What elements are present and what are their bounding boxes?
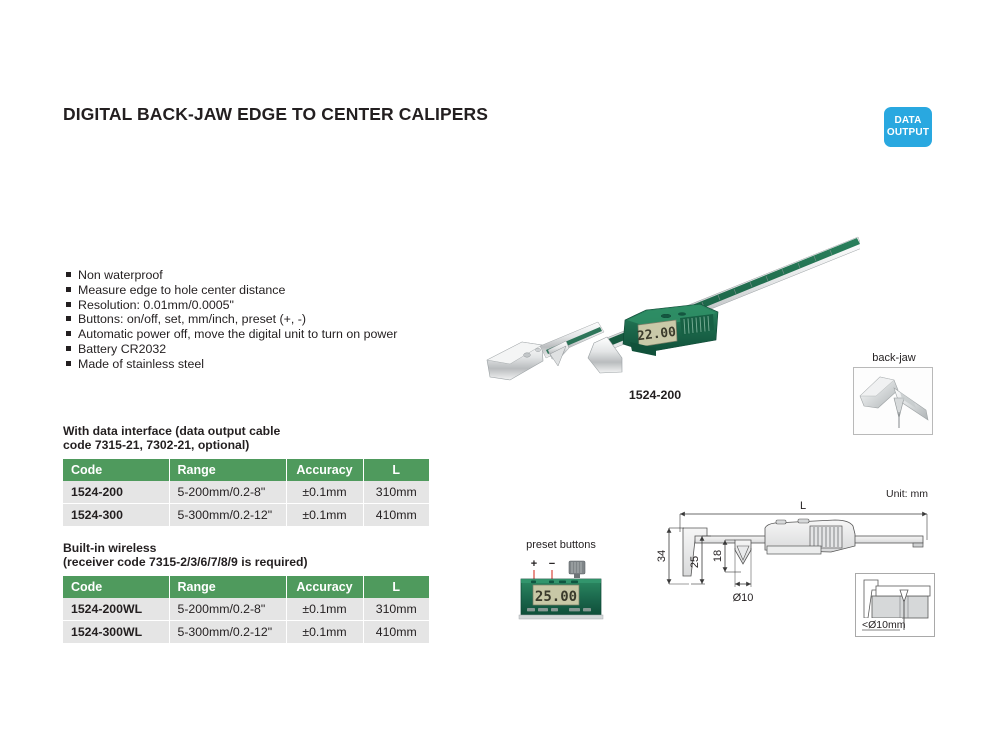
spec-table-data-interface: With data interface (data output cable c… xyxy=(63,424,429,526)
page-title: DIGITAL BACK-JAW EDGE TO CENTER CALIPERS xyxy=(63,104,488,125)
feature-text: Battery CR2032 xyxy=(78,342,166,357)
table-header-row: Code Range Accuracy L xyxy=(63,576,429,598)
square-bullet-icon xyxy=(66,287,71,292)
table: Code Range Accuracy L 1524-200WL 5-200mm… xyxy=(63,576,429,643)
column-header-range: Range xyxy=(169,459,286,481)
cell-accuracy: ±0.1mm xyxy=(286,481,363,504)
cell-code: 1524-200 xyxy=(63,481,169,504)
preset-buttons-inset: preset buttons + − xyxy=(513,539,609,621)
table-caption-line2: code 7315-21, 7302-21, optional) xyxy=(63,438,429,452)
feature-list: Non waterproof Measure edge to hole cent… xyxy=(66,268,466,372)
cell-l: 310mm xyxy=(363,598,429,621)
back-jaw-label: back-jaw xyxy=(853,352,935,364)
list-item: Resolution: 0.01mm/0.0005" xyxy=(66,298,466,313)
dim-34-label: 34 xyxy=(656,550,668,562)
table-caption-line2: (receiver code 7315-2/3/6/7/8/9 is requi… xyxy=(63,555,429,569)
table-row: 1524-200 5-200mm/0.2-8" ±0.1mm 310mm xyxy=(63,481,429,504)
square-bullet-icon xyxy=(66,331,71,336)
cell-accuracy: ±0.1mm xyxy=(286,621,363,644)
column-header-code: Code xyxy=(63,459,169,481)
list-item: Non waterproof xyxy=(66,268,466,283)
cell-accuracy: ±0.1mm xyxy=(286,504,363,527)
hole-detail-diagram: <Ø10mm xyxy=(856,574,934,636)
square-bullet-icon xyxy=(66,316,71,321)
feature-text: Automatic power off, move the digital un… xyxy=(78,327,397,342)
table-row: 1524-200WL 5-200mm/0.2-8" ±0.1mm 310mm xyxy=(63,598,429,621)
data-output-badge-line1: DATA xyxy=(894,115,921,127)
feature-text: Measure edge to hole center distance xyxy=(78,283,285,298)
hole-detail-box: <Ø10mm xyxy=(855,573,935,637)
cell-l: 310mm xyxy=(363,481,429,504)
column-header-l: L xyxy=(363,576,429,598)
data-output-badge: DATA OUTPUT xyxy=(884,107,932,147)
product-photo-caption: 1524-200 xyxy=(600,388,710,402)
back-jaw-photo-frame xyxy=(853,367,933,435)
list-item: Battery CR2032 xyxy=(66,342,466,357)
list-item: Made of stainless steel xyxy=(66,357,466,372)
square-bullet-icon xyxy=(66,302,71,307)
preset-plus-label: + xyxy=(531,558,537,570)
cell-code: 1524-300 xyxy=(63,504,169,527)
column-header-accuracy: Accuracy xyxy=(286,459,363,481)
cell-range: 5-300mm/0.2-12" xyxy=(169,621,286,644)
caliper-digital-unit: 22.00 xyxy=(623,304,718,356)
list-item: Automatic power off, move the digital un… xyxy=(66,327,466,342)
square-bullet-icon xyxy=(66,361,71,366)
data-output-badge-line2: OUTPUT xyxy=(887,127,929,139)
cell-range: 5-200mm/0.2-8" xyxy=(169,481,286,504)
preset-buttons-photo-frame: + − 25.00 xyxy=(517,555,605,621)
back-jaw-inset: back-jaw xyxy=(853,352,935,435)
cell-code: 1524-200WL xyxy=(63,598,169,621)
cell-l: 410mm xyxy=(363,621,429,644)
feature-text: Made of stainless steel xyxy=(78,357,204,372)
hole-detail-label: <Ø10mm xyxy=(862,619,906,631)
square-bullet-icon xyxy=(66,346,71,351)
feature-text: Non waterproof xyxy=(78,268,163,283)
spec-table-built-in-wireless: Built-in wireless (receiver code 7315-2/… xyxy=(63,541,429,643)
feature-text: Resolution: 0.01mm/0.0005" xyxy=(78,298,234,313)
cell-l: 410mm xyxy=(363,504,429,527)
table-header-row: Code Range Accuracy L xyxy=(63,459,429,481)
column-header-l: L xyxy=(363,459,429,481)
cell-code: 1524-300WL xyxy=(63,621,169,644)
table-row: 1524-300 5-300mm/0.2-12" ±0.1mm 410mm xyxy=(63,504,429,527)
dim-18-label: 18 xyxy=(712,550,724,562)
table-caption: With data interface (data output cable c… xyxy=(63,424,429,452)
list-item: Measure edge to hole center distance xyxy=(66,283,466,298)
feature-text: Buttons: on/off, set, mm/inch, preset (+… xyxy=(78,312,306,327)
table-caption: Built-in wireless (receiver code 7315-2/… xyxy=(63,541,429,569)
preset-minus-label: − xyxy=(549,558,555,570)
table-row: 1524-300WL 5-300mm/0.2-12" ±0.1mm 410mm xyxy=(63,621,429,644)
square-bullet-icon xyxy=(66,272,71,277)
table-caption-line1: Built-in wireless xyxy=(63,541,429,555)
cell-accuracy: ±0.1mm xyxy=(286,598,363,621)
lcd-value: 25.00 xyxy=(535,589,577,605)
cell-range: 5-300mm/0.2-12" xyxy=(169,504,286,527)
dim-overall-label: L xyxy=(800,500,806,512)
table: Code Range Accuracy L 1524-200 5-200mm/0… xyxy=(63,459,429,526)
list-item: Buttons: on/off, set, mm/inch, preset (+… xyxy=(66,312,466,327)
column-header-accuracy: Accuracy xyxy=(286,576,363,598)
table-caption-line1: With data interface (data output cable xyxy=(63,424,429,438)
dim-25-label: 25 xyxy=(689,556,701,568)
column-header-range: Range xyxy=(169,576,286,598)
unit-label: Unit: mm xyxy=(886,488,928,500)
back-jaw-photo xyxy=(854,368,932,434)
product-photo: 22.00 xyxy=(470,232,860,382)
preset-buttons-photo: + − 25.00 xyxy=(517,555,605,621)
column-header-code: Code xyxy=(63,576,169,598)
caliper-profile xyxy=(683,519,923,576)
preset-buttons-label: preset buttons xyxy=(513,539,609,551)
dim-diameter-label: Ø10 xyxy=(733,592,754,604)
cell-range: 5-200mm/0.2-8" xyxy=(169,598,286,621)
